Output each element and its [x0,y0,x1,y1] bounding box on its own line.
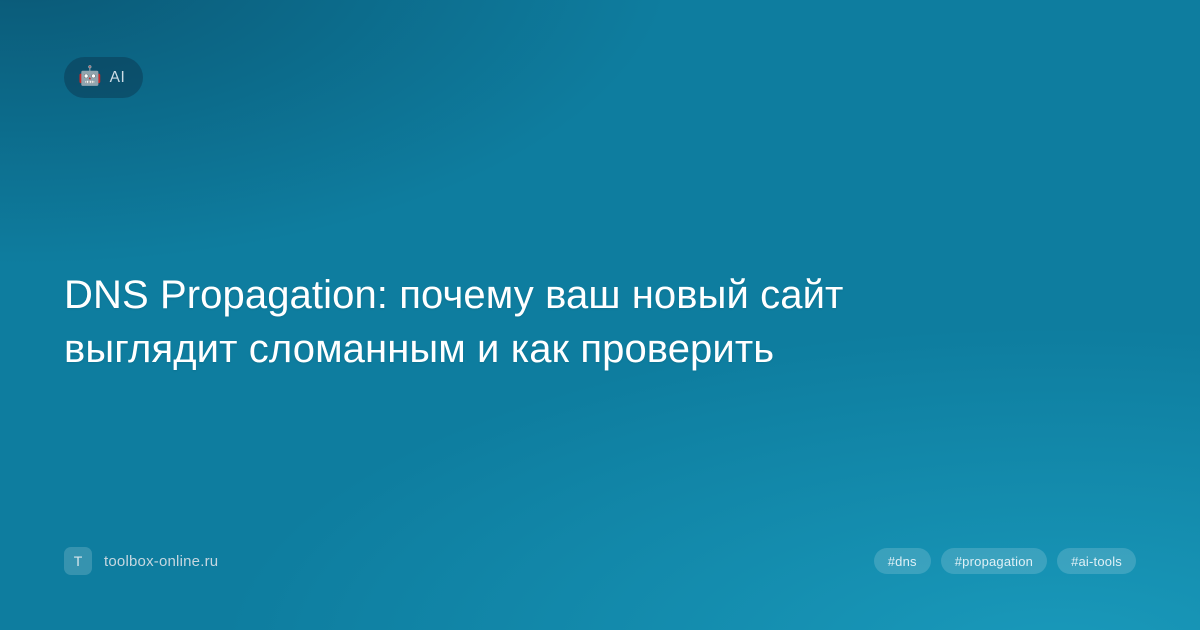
ai-badge: 🤖 AI [64,57,143,98]
tag-item[interactable]: #propagation [941,548,1047,574]
tag-list: #dns #propagation #ai-tools [874,548,1136,574]
card-footer: T toolbox-online.ru #dns #propagation #a… [64,546,1136,576]
brand: T toolbox-online.ru [64,547,218,575]
robot-icon: 🤖 [78,67,102,86]
brand-logo-icon: T [64,547,92,575]
page-title: DNS Propagation: почему ваш новый сайт в… [64,268,1024,376]
brand-name: toolbox-online.ru [104,553,218,570]
tag-item[interactable]: #ai-tools [1057,548,1136,574]
tag-item[interactable]: #dns [874,548,931,574]
ai-badge-label: AI [110,70,126,86]
og-card: 🤖 AI DNS Propagation: почему ваш новый с… [0,0,1200,630]
